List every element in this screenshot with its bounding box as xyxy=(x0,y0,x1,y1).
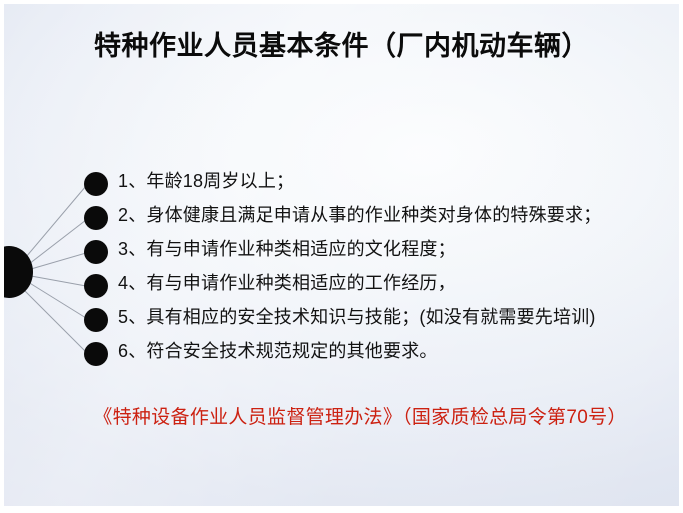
slide-canvas: 特种作业人员基本条件（厂内机动车辆） 1、年龄18周岁以上； 2、身体健康且满足… xyxy=(4,4,679,506)
bullet-marker-2 xyxy=(84,206,108,230)
list-item: 5、具有相应的安全技术知识与技能；(如没有就需要先培训) xyxy=(118,300,668,334)
slide-frame: 特种作业人员基本条件（厂内机动车辆） 1、年龄18周岁以上； 2、身体健康且满足… xyxy=(0,0,683,513)
bullet-list: 1、年龄18周岁以上； 2、身体健康且满足申请从事的作业种类对身体的特殊要求； … xyxy=(118,164,668,368)
bullet-marker-6 xyxy=(84,342,108,366)
connector-line-5 xyxy=(28,282,86,318)
connector-line-4 xyxy=(31,276,86,286)
regulation-citation: 《特种设备作业人员监督管理办法》（国家质检总局令第70号） xyxy=(80,402,640,429)
list-item: 1、年龄18周岁以上； xyxy=(118,164,668,198)
connector-line-1 xyxy=(26,186,86,257)
list-item: 2、身体健康且满足申请从事的作业种类对身体的特殊要求； xyxy=(118,198,668,232)
list-item: 6、符合安全技术规范规定的其他要求。 xyxy=(118,334,668,368)
bullet-marker-5 xyxy=(84,308,108,332)
connector-line-3 xyxy=(31,253,86,269)
connector-line-2 xyxy=(29,220,86,264)
page-title: 特种作业人员基本条件（厂内机动车辆） xyxy=(4,24,679,63)
bullet-marker-4 xyxy=(84,274,108,298)
bullet-marker-1 xyxy=(84,172,108,196)
list-item: 3、有与申请作业种类相适应的文化程度； xyxy=(118,232,668,266)
bullet-marker-3 xyxy=(84,240,108,264)
list-item: 4、有与申请作业种类相适应的工作经历， xyxy=(118,266,668,300)
